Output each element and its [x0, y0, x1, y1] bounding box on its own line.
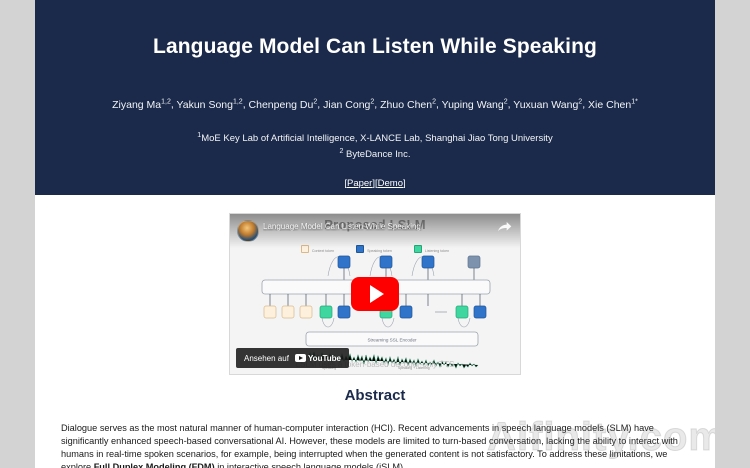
header-links: [Paper][Demo]	[61, 178, 689, 189]
author-name: Xie Chen	[588, 99, 631, 111]
author-name: Zhuo Chen	[380, 99, 432, 111]
author-name: Chenpeng Du	[249, 99, 314, 111]
youtube-player[interactable]: Proposed LSLM Context token Speaking tok…	[229, 213, 521, 375]
author-name: Yuping Wang	[442, 99, 504, 111]
affiliation-line-2: 2 ByteDance Inc.	[61, 146, 689, 163]
author-affiliation-marker: 1*	[631, 98, 638, 105]
author-entry: Yuping Wang2	[442, 99, 508, 111]
channel-avatar[interactable]	[237, 220, 259, 242]
youtube-wordmark: YouTube	[308, 354, 341, 363]
demo-link[interactable]: Demo	[378, 178, 403, 189]
author-affiliation-marker: 1,2	[233, 98, 243, 105]
author-name: Yakun Song	[177, 99, 233, 111]
author-name: Yuxuan Wang	[513, 99, 578, 111]
encoder-box-label: Streaming SSL Encoder	[367, 338, 417, 343]
affiliations: 1MoE Key Lab of Artificial Intelligence,…	[61, 130, 689, 164]
author-entry: Zhuo Chen2	[380, 99, 436, 111]
abstract-paragraph: Dialogue serves as the most natural mann…	[61, 422, 689, 468]
affiliation-text-2: ByteDance Inc.	[343, 149, 410, 160]
share-icon[interactable]	[496, 220, 512, 236]
page-container: Language Model Can Listen While Speaking…	[35, 0, 715, 468]
page-header-banner: Language Model Can Listen While Speaking…	[35, 0, 715, 195]
author-entry: Yuxuan Wang2	[513, 99, 582, 111]
video-title-overlay[interactable]: Language Model Can Listen While Speaking	[263, 222, 476, 231]
author-name: Jian Cong	[323, 99, 370, 111]
abstract-heading: Abstract	[61, 387, 689, 404]
author-entry: Jian Cong2	[323, 99, 374, 111]
author-list: Ziyang Ma1,2, Yakun Song1,2, Chenpeng Du…	[61, 97, 689, 113]
video-embed-container: Proposed LSLM Context token Speaking tok…	[229, 213, 521, 375]
play-button[interactable]	[351, 277, 399, 311]
youtube-play-icon	[295, 354, 306, 362]
author-entry: Ziyang Ma1,2	[112, 99, 171, 111]
page-title: Language Model Can Listen While Speaking	[61, 26, 689, 60]
affiliation-text-1: MoE Key Lab of Artificial Intelligence, …	[201, 133, 553, 144]
affiliation-line-1: 1MoE Key Lab of Artificial Intelligence,…	[61, 130, 689, 147]
abstract-text-part-2: in interactive speech language models (i…	[215, 462, 406, 468]
page-body: Proposed LSLM Context token Speaking tok…	[35, 213, 715, 468]
author-entry: Yakun Song1,2	[177, 99, 243, 111]
play-triangle-icon	[370, 285, 384, 303]
youtube-logo: YouTube	[295, 354, 341, 363]
watch-on-youtube-label: Ansehen auf	[244, 354, 289, 363]
paper-link[interactable]: Paper	[347, 178, 372, 189]
author-affiliation-marker: 1,2	[161, 98, 171, 105]
author-entry: Xie Chen1*	[588, 99, 638, 111]
author-name: Ziyang Ma	[112, 99, 161, 111]
abstract-bold-term: Full Duplex Modeling (FDM)	[94, 462, 215, 468]
watch-on-youtube-button[interactable]: Ansehen auf YouTube	[236, 348, 349, 368]
bracket-close: ]	[403, 178, 406, 189]
author-entry: Chenpeng Du2	[249, 99, 318, 111]
youtube-top-gradient	[230, 214, 520, 248]
